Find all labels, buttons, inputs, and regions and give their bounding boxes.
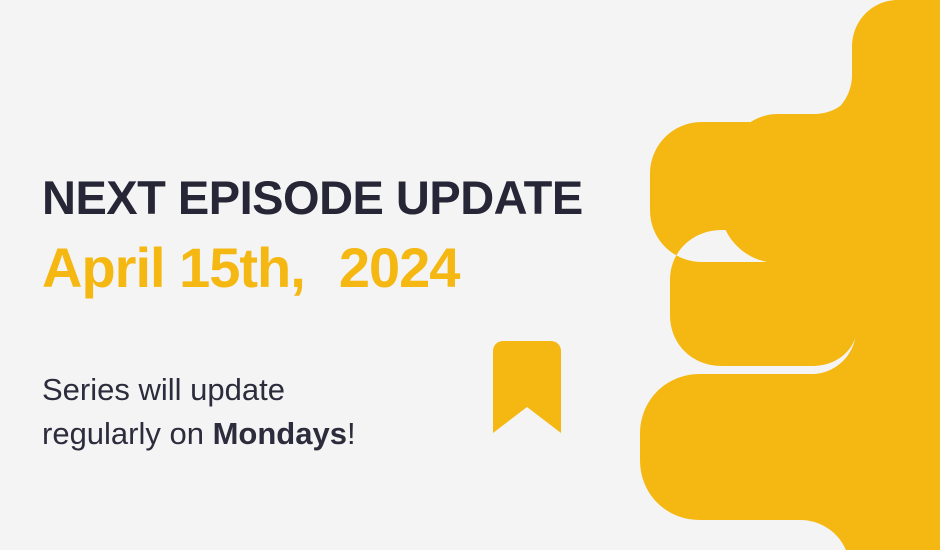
schedule-note-emphasis: Mondays [213, 416, 347, 451]
episode-date-day: April 15th, [42, 236, 305, 299]
schedule-note-line-one: Series will update [42, 372, 285, 407]
episode-date: April 15th,2024 [42, 240, 459, 296]
schedule-note-prefix: regularly on [42, 416, 213, 451]
next-episode-banner: NEXT EPISODE UPDATE April 15th,2024 Seri… [0, 0, 940, 550]
bookmark-icon [493, 341, 561, 433]
banner-content: NEXT EPISODE UPDATE April 15th,2024 Seri… [42, 0, 662, 550]
wave-decoration-shape [640, 0, 940, 550]
episode-date-year: 2024 [339, 236, 460, 299]
schedule-note: Series will update regularly on Mondays! [42, 368, 472, 456]
schedule-note-suffix: ! [347, 416, 356, 451]
page-title: NEXT EPISODE UPDATE [42, 174, 583, 221]
